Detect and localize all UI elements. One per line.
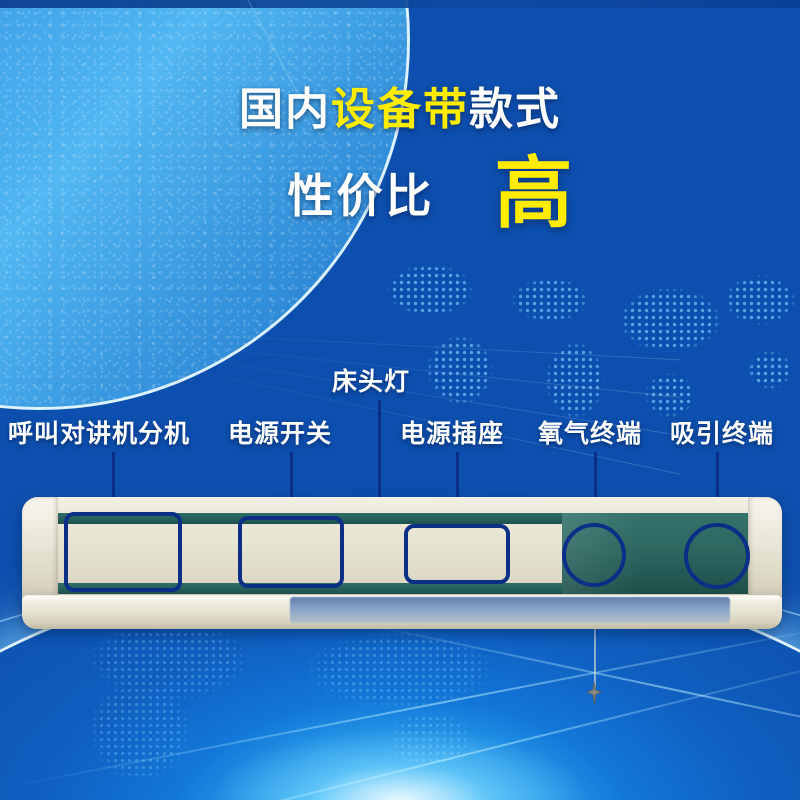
highlight-ring-suction	[684, 523, 750, 589]
panel-bottom-rail	[22, 595, 782, 629]
callout-label-switch: 电源开关	[228, 414, 332, 450]
panel-endcap-right	[748, 497, 782, 609]
rail-glare-reflection	[290, 597, 730, 623]
callout-label-suction: 吸引终端	[670, 414, 774, 450]
promo-banner: 国内设备带款式 性价比 高 呼叫对讲机分机 电源开关 床头灯 电源插座 氧气终端…	[0, 0, 800, 800]
callout-label-bedlamp: 床头灯	[332, 362, 410, 398]
pull-cord-hook-icon[interactable]	[586, 682, 602, 704]
callout-label-oxygen: 氧气终端	[538, 414, 642, 450]
panel-endcap-left	[22, 497, 58, 609]
highlight-box-socket	[404, 524, 510, 584]
highlight-box-switch	[238, 516, 344, 588]
callout-label-intercom: 呼叫对讲机分机	[8, 414, 190, 450]
highlight-box-intercom	[64, 512, 182, 592]
highlight-ring-oxygen	[562, 523, 626, 587]
callout-label-socket: 电源插座	[400, 414, 504, 450]
callout-group: 呼叫对讲机分机 电源开关 床头灯 电源插座 氧气终端 吸引终端	[0, 0, 800, 800]
